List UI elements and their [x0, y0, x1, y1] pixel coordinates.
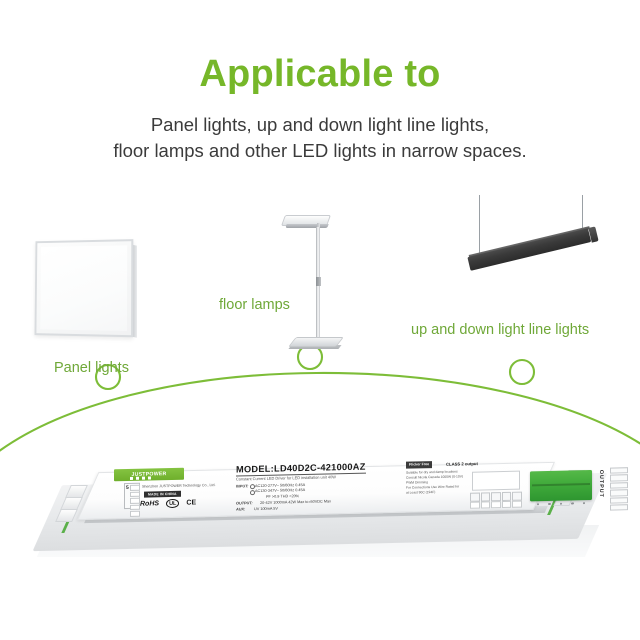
- output-line-1: 20-42V 1000mA 42W Max tc=50VDC Max: [260, 499, 331, 505]
- note-line-5: at Least 90C (194F): [406, 490, 463, 496]
- panel-light-diffuser: [40, 245, 127, 331]
- rohs-icon: RoHS: [140, 500, 159, 507]
- floor-lamp-illustration: [277, 215, 339, 360]
- output-terminal-label: OUTPUT: [598, 470, 604, 498]
- panel-light-illustration: [33, 240, 139, 345]
- input-line-1: AC120-277V~ 50/60Hz 0.45A: [255, 482, 305, 487]
- panel-light-face: [35, 239, 134, 337]
- right-side-switch-block: [610, 467, 626, 501]
- infographic-canvas: Applicable to Panel lights, up and down …: [0, 0, 640, 640]
- linear-pendant-illustration: [455, 195, 600, 305]
- output-title: OUTPUT:: [236, 501, 253, 505]
- arc-marker-linear: [510, 360, 534, 384]
- brand-logo-dots: [130, 476, 151, 479]
- page-subtitle: Panel lights, up and down light line lig…: [0, 112, 640, 165]
- subtitle-line-1: Panel lights, up and down light line lig…: [0, 112, 640, 138]
- green-output-connector: [530, 470, 592, 501]
- floor-lamp-head-underside: [285, 224, 328, 228]
- blank-write-box: [472, 471, 520, 491]
- made-in-badge: MADE IN CHINA: [144, 491, 181, 498]
- input-line-3: PF >0.9 THD <20%: [266, 494, 299, 499]
- floor-lamp-base: [288, 337, 344, 347]
- product-label-line-lights: up and down light line lights: [411, 322, 589, 338]
- manufacturer-line: Shenzhen JUSTPOWER Technology Co., Ltd.: [142, 483, 215, 489]
- driver-notes: Suitable for dry and damp locations Cons…: [406, 469, 463, 496]
- warning-marks-strip: 5: [124, 483, 140, 509]
- product-label-panel-lights: Panel lights: [54, 360, 129, 376]
- aux-title: AUX:: [236, 507, 245, 511]
- warning-number: 5: [126, 485, 129, 491]
- connector-pins: [532, 501, 590, 506]
- warning-rows: [130, 485, 140, 518]
- product-label-floor-lamps: floor lamps: [219, 297, 290, 313]
- driver-product-label: JUSTPOWER 5 Shenzhen JUSTPOWER Technolog…: [114, 459, 494, 518]
- driver-input-terminal-block: [54, 483, 100, 527]
- driver-description: Constant Current LED Driver for LED inst…: [236, 474, 336, 481]
- ul-icon: UL: [166, 499, 179, 508]
- subtitle-line-2: floor lamps and other LED lights in narr…: [0, 138, 640, 164]
- certification-marks: RoHS UL CE: [140, 498, 196, 508]
- pendant-bar: [467, 228, 591, 271]
- input-terminal-3: [55, 509, 78, 522]
- led-driver-illustration: JUSTPOWER 5 Shenzhen JUSTPOWER Technolog…: [38, 455, 604, 570]
- ce-icon: CE: [186, 499, 196, 506]
- floor-lamp-dimmer-joint: [316, 277, 321, 286]
- dip-switch-row-bottom: [470, 501, 522, 509]
- driver-hardware-zone: OUTPUT: [468, 463, 628, 519]
- aux-line-1: UV 100mA 5V: [254, 507, 278, 512]
- model-number: MODEL:LD40D2C-421000AZ: [236, 462, 366, 476]
- page-title: Applicable to: [0, 55, 640, 95]
- flicker-free-badge: Flicker Free: [406, 461, 432, 468]
- input-title: INPUT:: [236, 484, 248, 488]
- input-line-2: AC130-347V~ 50/60Hz 0.45A: [255, 488, 305, 493]
